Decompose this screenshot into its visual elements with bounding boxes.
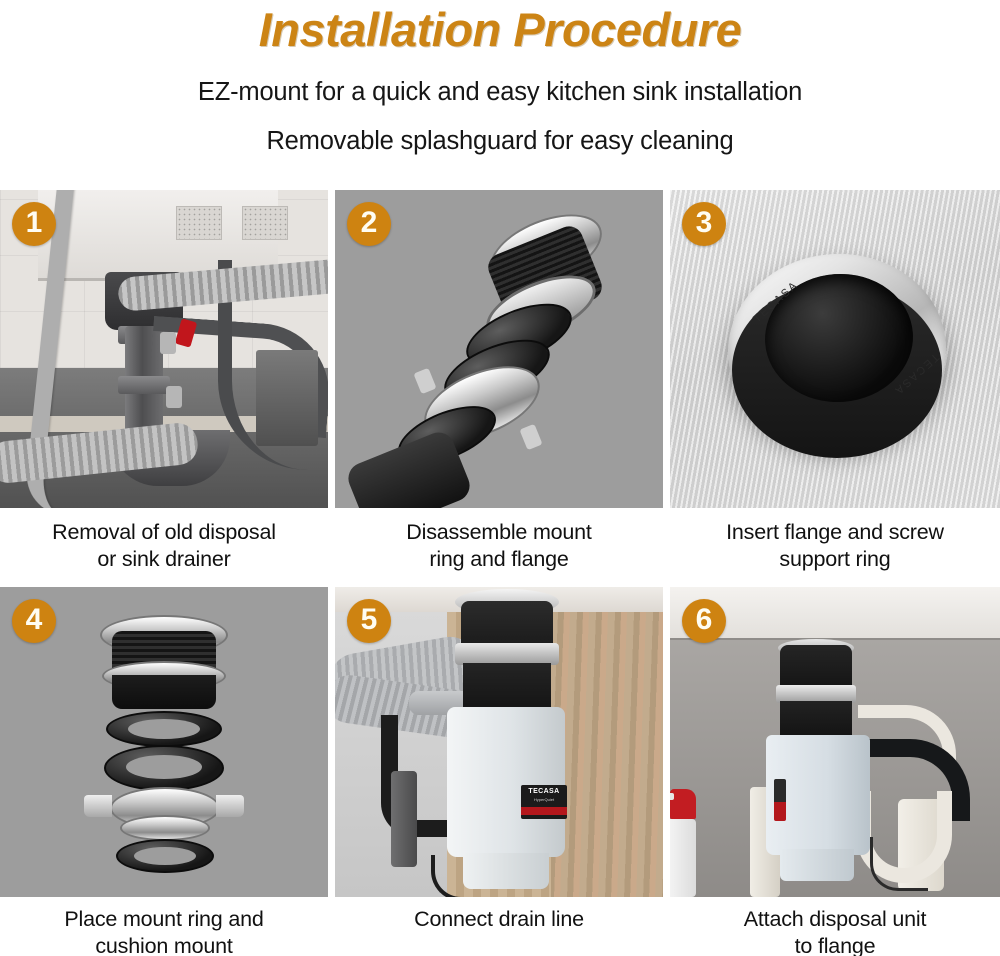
step-card-5: TECASA HyperQuiet 5 Connect drain line (335, 587, 663, 956)
step-card-1: 1 Removal of old disposal or sink draine… (0, 190, 328, 587)
label-badge-bar (521, 807, 567, 815)
header: Installation Procedure EZ-mount for a qu… (0, 0, 1000, 159)
step-6-caption: Attach disposal unit to flange (670, 897, 1000, 956)
caption-line-1: Attach disposal unit (676, 906, 994, 933)
caption-line-2: ring and flange (341, 546, 657, 573)
caption-line-2: cushion mount (6, 933, 322, 956)
hose-clip-icon (166, 386, 182, 408)
subtitle-line-2: Removable splashguard for easy cleaning (0, 123, 1000, 159)
step-4-caption: Place mount ring and cushion mount (0, 897, 328, 956)
step-badge-4: 4 (12, 599, 56, 643)
cushion-hole (134, 847, 196, 865)
mount-ring-lower (120, 815, 210, 841)
bottle-nozzle (670, 793, 674, 800)
page-title: Installation Procedure (0, 2, 1000, 58)
caption-line-1: Removal of old disposal (6, 519, 322, 546)
disposal-neck (463, 663, 551, 711)
caption-line-1: Connect drain line (341, 906, 657, 933)
step-card-2: 2 Disassemble mount ring and flange (335, 190, 663, 587)
step-1-photo: 1 (0, 190, 328, 508)
step-badge-6: 6 (682, 599, 726, 643)
step-5-photo: TECASA HyperQuiet 5 (335, 587, 663, 897)
caption-line-2: support ring (676, 546, 994, 573)
disposal-neck (780, 701, 852, 739)
product-label: TECASA HyperQuiet (521, 785, 567, 819)
label-model: HyperQuiet (534, 797, 554, 802)
step-3-photo: TECASA TECASA 3 (670, 190, 1000, 508)
step-card-4: 4 Place mount ring and cushion mount (0, 587, 328, 956)
step-badge-2: 2 (347, 202, 391, 246)
infographic-page: Installation Procedure EZ-mount for a qu… (0, 0, 1000, 956)
step-badge-1: 1 (12, 202, 56, 246)
step-number: 5 (361, 605, 378, 635)
power-cord (431, 855, 491, 897)
disposal-base (780, 849, 854, 881)
step-number: 2 (361, 208, 378, 238)
step-number: 6 (696, 605, 713, 635)
reset-switch-label (774, 779, 786, 821)
step-5-caption: Connect drain line (335, 897, 663, 947)
caption-line-1: Place mount ring and (6, 906, 322, 933)
step-1-caption: Removal of old disposal or sink drainer (0, 508, 328, 587)
disposal-body (447, 707, 565, 857)
mount-tab-icon (84, 795, 112, 817)
perforated-bracket-icon (242, 206, 288, 240)
mount-clamp-ring (455, 643, 559, 665)
step-card-3: TECASA TECASA 3 Insert flange and screw … (670, 190, 1000, 587)
mount-tab-icon (413, 368, 436, 394)
step-number: 1 (26, 208, 43, 238)
caption-line-1: Disassemble mount (341, 519, 657, 546)
gasket-hole (128, 719, 200, 739)
flange-hole (126, 755, 202, 779)
step-2-photo: 2 (335, 190, 663, 508)
perforated-bracket-icon (176, 206, 222, 240)
wood-side-panel (551, 612, 663, 897)
step-number: 4 (26, 605, 43, 635)
step-number: 3 (696, 208, 713, 238)
appliance-side (256, 350, 318, 446)
sleeve-base (112, 675, 216, 709)
step-4-photo: 4 (0, 587, 328, 897)
step-6-photo: 6 (670, 587, 1000, 897)
power-cord (870, 837, 928, 891)
caption-line-2: to flange (676, 933, 994, 956)
subtitle-line-1: EZ-mount for a quick and easy kitchen si… (0, 74, 1000, 110)
step-3-caption: Insert flange and screw support ring (670, 508, 1000, 587)
caption-line-1: Insert flange and screw (676, 519, 994, 546)
hose-clip-icon (160, 332, 176, 354)
step-badge-5: 5 (347, 599, 391, 643)
step-badge-3: 3 (682, 202, 726, 246)
spray-bottle (670, 785, 700, 897)
label-brand: TECASA (528, 788, 559, 795)
drain-standpipe (391, 771, 417, 867)
bottle-body (670, 819, 696, 897)
step-2-caption: Disassemble mount ring and flange (335, 508, 663, 587)
mount-tab-icon (216, 795, 244, 817)
mount-tab-icon (519, 424, 542, 450)
steps-grid: 1 Removal of old disposal or sink draine… (0, 190, 1000, 956)
step-card-6: 6 Attach disposal unit to flange (670, 587, 1000, 956)
caption-line-2: or sink drainer (6, 546, 322, 573)
